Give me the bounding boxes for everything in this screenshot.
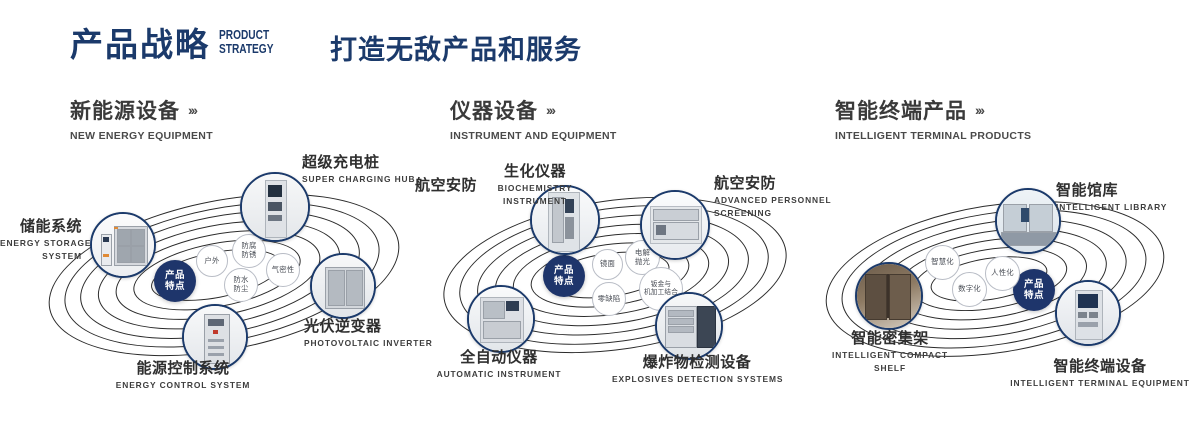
section-title-new-energy: 新能源设备››› NEW ENERGY EQUIPMENT: [70, 95, 213, 142]
product-photo-explosives-detection: [657, 294, 721, 358]
product-label-en-line2: INSTRUMENT: [455, 196, 615, 207]
product-photo-terminal-equipment: [1057, 282, 1119, 344]
product-label-en-line1: EXPLOSIVES DETECTION SYSTEMS: [612, 374, 782, 385]
chevron-right-icon: ›››: [546, 102, 554, 118]
section-1-title-cn: 新能源设备›››: [70, 95, 213, 125]
product-bubble-automatic-instrument[interactable]: [467, 285, 535, 353]
product-label-en-line2: SCREENING: [714, 208, 831, 219]
product-label-cn: 超级充电桩: [302, 154, 415, 172]
section-2-title-cn-text: 仪器设备: [450, 100, 538, 123]
product-label-cn: 生化仪器: [455, 163, 615, 181]
product-label-en-line1: ENERGY CONTROL SYSTEM: [83, 380, 283, 391]
product-label-automatic-instrument: 全自动仪器 AUTOMATIC INSTRUMENT: [424, 349, 574, 380]
product-label-pv-inverter: 光伏逆变器 PHOTOVOLTAIC INVERTER: [304, 318, 433, 349]
feature-tag-line1: 镜面: [600, 260, 615, 269]
product-label-compact-shelf: 智能密集架 INTELLIGENT COMPACT SHELF: [795, 330, 985, 374]
feature-tag-waterproof[interactable]: 防水 防尘: [224, 268, 258, 302]
product-label-en-line2: SHELF: [795, 363, 985, 374]
product-label-cn: 全自动仪器: [424, 349, 574, 367]
product-photo-energy-storage: [92, 214, 154, 276]
feature-tag-line2: 防尘: [233, 285, 248, 294]
feature-tag-line2: 抛光: [635, 258, 650, 267]
feature-tag-zero-defect[interactable]: 零缺陷: [592, 282, 626, 316]
feature-tag-line1: 人性化: [991, 269, 1014, 278]
product-label-cn: 航空安防: [714, 175, 831, 193]
page-title-english-line1: PRODUCT: [219, 28, 273, 42]
core-label-line1: 产品: [1024, 279, 1044, 290]
product-label-cn: 能源控制系统: [83, 360, 283, 378]
page-title: 产品战略: [70, 24, 210, 66]
feature-tag-line1: 气密性: [272, 266, 295, 275]
product-label-cn: 智能终端设备: [1000, 358, 1200, 376]
product-bubble-charging-hub[interactable]: [240, 172, 310, 242]
product-label-en-line1: INTELLIGENT COMPACT: [795, 350, 985, 361]
product-label-en-line1: ADVANCED PERSONNEL: [714, 195, 831, 206]
product-bubble-pv-inverter[interactable]: [310, 253, 376, 319]
product-photo-compact-shelf: [857, 264, 921, 328]
product-bubble-personnel-screening[interactable]: [640, 190, 710, 260]
product-label-en-line1: BIOCHEMISTRY: [455, 183, 615, 194]
section-3-title-cn-text: 智能终端产品: [835, 100, 967, 123]
feature-tag-outdoor[interactable]: 户外: [196, 245, 228, 277]
feature-tag-digital[interactable]: 数字化: [952, 272, 987, 307]
core-label-line2: 特点: [1024, 290, 1044, 301]
product-photo-intelligent-library: [997, 190, 1059, 252]
page-title-english-line2: STRATEGY: [219, 42, 273, 56]
core-label-line2: 特点: [165, 281, 185, 292]
feature-tag-line1: 户外: [204, 257, 219, 266]
section-title-intelligent-terminal: 智能终端产品››› INTELLIGENT TERMINAL PRODUCTS: [835, 95, 1031, 142]
product-label-en-line1: PHOTOVOLTAIC INVERTER: [304, 338, 433, 349]
product-bubble-explosives-detection[interactable]: [655, 292, 723, 360]
product-photo-automatic-instrument: [469, 287, 533, 351]
product-bubble-intelligent-library[interactable]: [995, 188, 1061, 254]
product-label-en-line2: SYSTEM: [0, 251, 82, 262]
poster-canvas: 产品战略 PRODUCT STRATEGY 打造无敌产品和服务 新能源设备›››…: [0, 0, 1200, 422]
product-label-terminal-equipment: 智能终端设备 INTELLIGENT TERMINAL EQUIPMENT: [1000, 358, 1200, 389]
product-photo-personnel-screening: [642, 192, 708, 258]
product-label-en-line1: INTELLIGENT LIBRARY: [1056, 202, 1167, 213]
product-bubble-energy-storage[interactable]: [90, 212, 156, 278]
feature-tag-intelligent[interactable]: 智慧化: [925, 245, 960, 280]
feature-tag-humanized[interactable]: 人性化: [985, 256, 1020, 291]
section-1-title-cn-text: 新能源设备: [70, 100, 180, 123]
product-bubble-terminal-equipment[interactable]: [1055, 280, 1121, 346]
core-bubble-product-features[interactable]: 产品 特点: [543, 255, 585, 297]
product-label-biochemistry-instrument: 生化仪器 BIOCHEMISTRY INSTRUMENT: [455, 163, 615, 207]
product-label-en-line1: AUTOMATIC INSTRUMENT: [424, 369, 574, 380]
feature-tag-line1: 数字化: [958, 285, 981, 294]
product-photo-energy-control: [184, 306, 246, 368]
core-label-line1: 产品: [554, 265, 574, 276]
feature-tag-line1: 智慧化: [931, 258, 954, 267]
product-label-en-line1: ENERGY STORAGE: [0, 238, 82, 249]
feature-tag-line1: 零缺陷: [598, 295, 621, 304]
product-label-personnel-screening: 航空安防 ADVANCED PERSONNEL SCREENING: [714, 175, 831, 219]
section-3-title-cn: 智能终端产品›››: [835, 95, 1031, 125]
section-3-title-en: INTELLIGENT TERMINAL PRODUCTS: [835, 130, 1031, 142]
chevron-right-icon: ›››: [188, 102, 196, 118]
product-label-cn: 光伏逆变器: [304, 318, 433, 336]
feature-tag-mirror[interactable]: 镜面: [592, 249, 623, 280]
poster-header: 产品战略 PRODUCT STRATEGY: [70, 24, 289, 66]
product-label-energy-storage: 储能系统 ENERGY STORAGE SYSTEM: [0, 218, 82, 262]
section-title-instrument: 仪器设备››› INSTRUMENT AND EQUIPMENT: [450, 95, 617, 142]
core-label-line2: 特点: [554, 276, 574, 287]
product-label-energy-control: 能源控制系统 ENERGY CONTROL SYSTEM: [83, 360, 283, 391]
product-photo-charging-hub: [242, 174, 308, 240]
section-2-title-cn: 仪器设备›››: [450, 95, 617, 125]
page-subtitle: 打造无敌产品和服务: [330, 30, 582, 70]
product-label-en-line1: INTELLIGENT TERMINAL EQUIPMENT: [1000, 378, 1200, 389]
page-title-english: PRODUCT STRATEGY: [219, 28, 273, 56]
product-label-cn: 爆炸物检测设备: [612, 354, 782, 372]
section-1-title-en: NEW ENERGY EQUIPMENT: [70, 130, 213, 142]
product-label-cn: 智能密集架: [795, 330, 985, 348]
product-label-explosives-detection: 爆炸物检测设备 EXPLOSIVES DETECTION SYSTEMS: [612, 354, 782, 385]
feature-tag-airtightness[interactable]: 气密性: [266, 253, 300, 287]
product-label-cn: 储能系统: [0, 218, 82, 236]
section-2-title-en: INSTRUMENT AND EQUIPMENT: [450, 130, 617, 142]
feature-tag-line2: 防锈: [241, 251, 256, 260]
product-bubble-compact-shelf[interactable]: [855, 262, 923, 330]
product-label-cn: 智能馆库: [1056, 182, 1167, 200]
core-label-line1: 产品: [165, 270, 185, 281]
core-bubble-product-features[interactable]: 产品 特点: [154, 260, 196, 302]
chevron-right-icon: ›››: [975, 102, 983, 118]
product-photo-pv-inverter: [312, 255, 374, 317]
product-label-intelligent-library: 智能馆库 INTELLIGENT LIBRARY: [1056, 182, 1167, 213]
feature-tag-line1: 钣金与: [651, 281, 671, 289]
